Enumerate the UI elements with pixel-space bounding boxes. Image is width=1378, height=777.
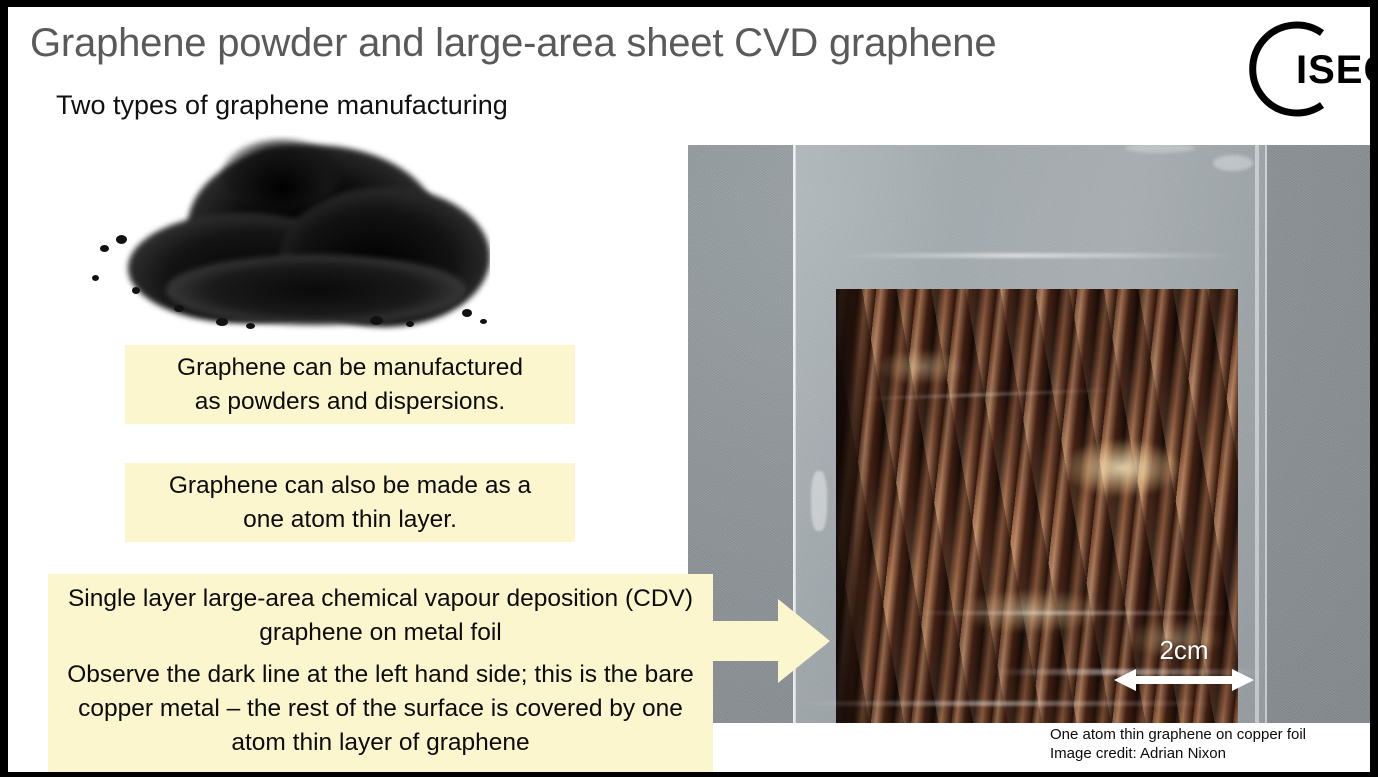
bag-fold-highlight	[908, 611, 1238, 615]
callout-powder-line2: as powders and dispersions.	[125, 385, 575, 419]
slide-canvas: Graphene powder and large-area sheet CVD…	[8, 7, 1370, 772]
bag-fold-highlight	[798, 701, 1218, 706]
bag-fold-highlight	[838, 253, 1238, 258]
isec-logo-mark: ISEC	[1204, 11, 1370, 127]
callout-cvd-para1: Single layer large-area chemical vapour …	[56, 582, 705, 650]
caption-line2: Image credit: Adrian Nixon	[1050, 744, 1306, 763]
arrow-right-icon	[708, 599, 830, 683]
scale-bar-label: 2cm	[1114, 635, 1254, 666]
isec-logo-text: ISEC	[1296, 48, 1370, 92]
callout-monolayer-line1: Graphene can also be made as a	[125, 469, 575, 503]
pointer-arrow	[708, 599, 830, 683]
image-caption: One atom thin graphene on copper foil Im…	[1050, 725, 1306, 763]
graphene-powder-image	[70, 135, 490, 335]
scale-bar: 2cm	[1114, 635, 1254, 697]
callout-powder: Graphene can be manufactured as powders …	[125, 345, 575, 424]
page-title: Graphene powder and large-area sheet CVD…	[30, 21, 1170, 66]
slide-subtitle: Two types of graphene manufacturing	[56, 90, 508, 121]
callout-monolayer: Graphene can also be made as a one atom …	[125, 463, 575, 542]
callout-monolayer-line2: one atom thin layer.	[125, 503, 575, 537]
callout-powder-line1: Graphene can be manufactured	[125, 351, 575, 385]
slide: Graphene powder and large-area sheet CVD…	[0, 0, 1378, 777]
callout-cvd-para2: Observe the dark line at the left hand s…	[56, 658, 705, 760]
bare-copper-dark-line	[836, 289, 866, 723]
caption-line1: One atom thin graphene on copper foil	[1050, 725, 1306, 744]
isec-logo: ISEC	[1204, 11, 1370, 127]
callout-cvd-description: Single layer large-area chemical vapour …	[48, 574, 713, 772]
double-arrow-icon	[1114, 667, 1254, 693]
